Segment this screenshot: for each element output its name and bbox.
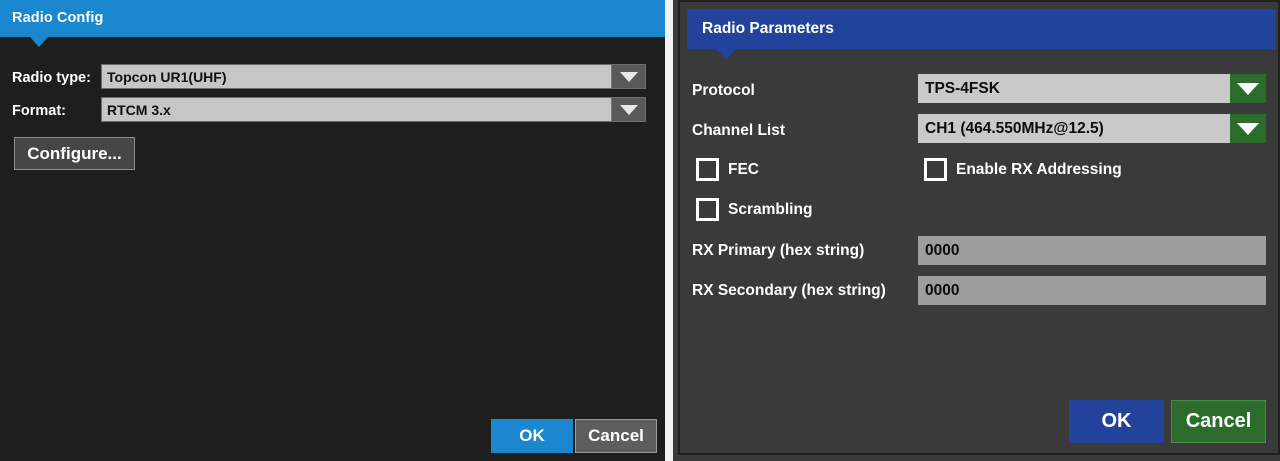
radio-type-value: Topcon UR1(UHF)	[102, 65, 611, 88]
enable-rx-addressing-checkbox[interactable]	[924, 158, 947, 181]
configure-button[interactable]: Configure...	[14, 137, 135, 170]
radio-parameters-title: Radio Parameters	[702, 20, 834, 38]
format-label: Format:	[12, 103, 66, 119]
rx-secondary-input[interactable]: 0000	[918, 276, 1266, 305]
fec-checkbox[interactable]	[696, 158, 719, 181]
chevron-down-icon[interactable]	[611, 98, 645, 121]
scrambling-checkbox[interactable]	[696, 198, 719, 221]
radio-config-panel: Radio Config Radio type: Topcon UR1(UHF)…	[0, 0, 665, 461]
protocol-value: TPS-4FSK	[918, 74, 1230, 103]
channel-list-value: CH1 (464.550MHz@12.5)	[918, 114, 1230, 143]
radio-config-titlebar: Radio Config	[0, 0, 665, 37]
scrambling-checkbox-row[interactable]: Scrambling	[696, 198, 812, 221]
format-value: RTCM 3.x	[102, 98, 611, 121]
radio-type-dropdown[interactable]: Topcon UR1(UHF)	[101, 64, 646, 89]
fec-checkbox-row[interactable]: FEC	[696, 158, 759, 181]
rx-primary-label: RX Primary (hex string)	[692, 242, 864, 260]
chevron-down-icon[interactable]	[1230, 114, 1266, 143]
radio-parameters-ok-button[interactable]: OK	[1069, 400, 1164, 443]
rx-secondary-label: RX Secondary (hex string)	[692, 282, 886, 300]
protocol-label: Protocol	[692, 82, 755, 100]
radio-config-ok-button[interactable]: OK	[491, 419, 573, 453]
scrambling-label: Scrambling	[728, 201, 812, 219]
radio-parameters-titlebar: Radio Parameters	[687, 9, 1276, 49]
channel-list-dropdown[interactable]: CH1 (464.550MHz@12.5)	[918, 114, 1266, 143]
format-dropdown[interactable]: RTCM 3.x	[101, 97, 646, 122]
panel-divider	[665, 0, 673, 461]
enable-rx-addressing-checkbox-row[interactable]: Enable RX Addressing	[924, 158, 1122, 181]
rx-primary-input[interactable]: 0000	[918, 236, 1266, 265]
enable-rx-addressing-label: Enable RX Addressing	[956, 161, 1122, 179]
chevron-down-icon[interactable]	[1230, 74, 1266, 103]
radio-config-title: Radio Config	[12, 10, 103, 26]
channel-list-label: Channel List	[692, 122, 785, 140]
radio-parameters-cancel-button[interactable]: Cancel	[1171, 400, 1266, 443]
radio-config-cancel-button[interactable]: Cancel	[575, 419, 657, 453]
radio-type-label: Radio type:	[12, 70, 91, 86]
radio-parameters-panel: Radio Parameters	[678, 0, 1280, 455]
protocol-dropdown[interactable]: TPS-4FSK	[918, 74, 1266, 103]
radio-parameters-title-notch	[716, 49, 736, 60]
radio-config-title-notch	[30, 37, 48, 47]
fec-label: FEC	[728, 161, 759, 179]
chevron-down-icon[interactable]	[611, 65, 645, 88]
